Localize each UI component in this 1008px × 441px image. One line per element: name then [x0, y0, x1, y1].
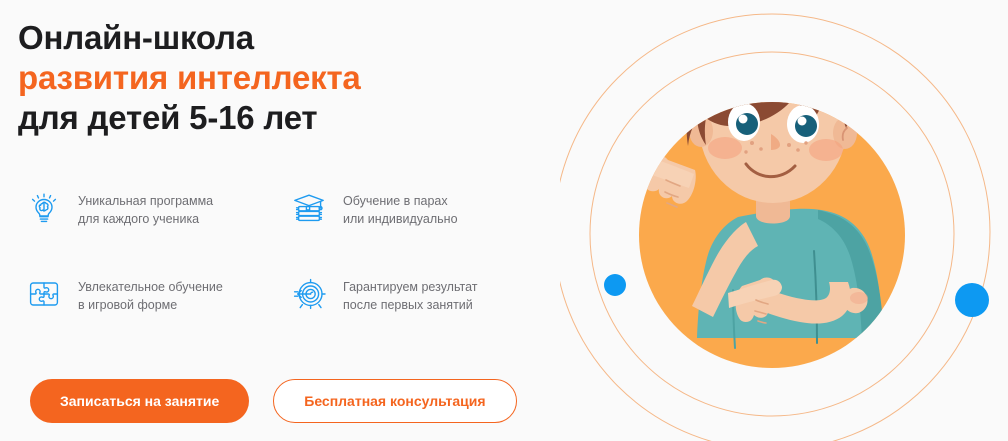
feature-list: Уникальная программа для каждого ученика [24, 186, 544, 358]
headline-line-3: для детей 5-16 лет [18, 98, 361, 138]
sign-up-button[interactable]: Записаться на занятие [30, 379, 249, 423]
feature-item-pair-learning: Обучение в парах или индивидуально [289, 186, 544, 272]
boy-pointing-illustration [560, 0, 1008, 441]
feature-label: Гарантируем результат после первых занят… [343, 272, 478, 314]
orbit-dot-left [604, 274, 626, 296]
lightbulb-brain-icon [24, 188, 64, 228]
feature-item-guaranteed-result: Гарантируем результат после первых занят… [289, 272, 544, 358]
graduation-cap-books-icon [289, 188, 329, 228]
free-consultation-button[interactable]: Бесплатная консультация [273, 379, 516, 423]
hero-section: Онлайн-школа развития интеллекта для дет… [0, 0, 1008, 441]
orbit-dot-right [955, 283, 989, 317]
headline-line-1: Онлайн-школа [18, 18, 361, 58]
feature-item-unique-program: Уникальная программа для каждого ученика [24, 186, 289, 272]
feature-label: Обучение в парах или индивидуально [343, 186, 458, 228]
feature-label: Увлекательное обучение в игровой форме [78, 272, 223, 314]
feature-label: Уникальная программа для каждого ученика [78, 186, 213, 228]
page-title: Онлайн-школа развития интеллекта для дет… [18, 18, 361, 138]
puzzle-icon [24, 274, 64, 314]
target-dart-icon [289, 274, 329, 314]
feature-item-game-form: Увлекательное обучение в игровой форме [24, 272, 289, 358]
hero-left-column: Онлайн-школа развития интеллекта для дет… [18, 0, 558, 441]
cta-button-row: Записаться на занятие Бесплатная консуль… [30, 379, 517, 423]
headline-line-2: развития интеллекта [18, 58, 361, 98]
